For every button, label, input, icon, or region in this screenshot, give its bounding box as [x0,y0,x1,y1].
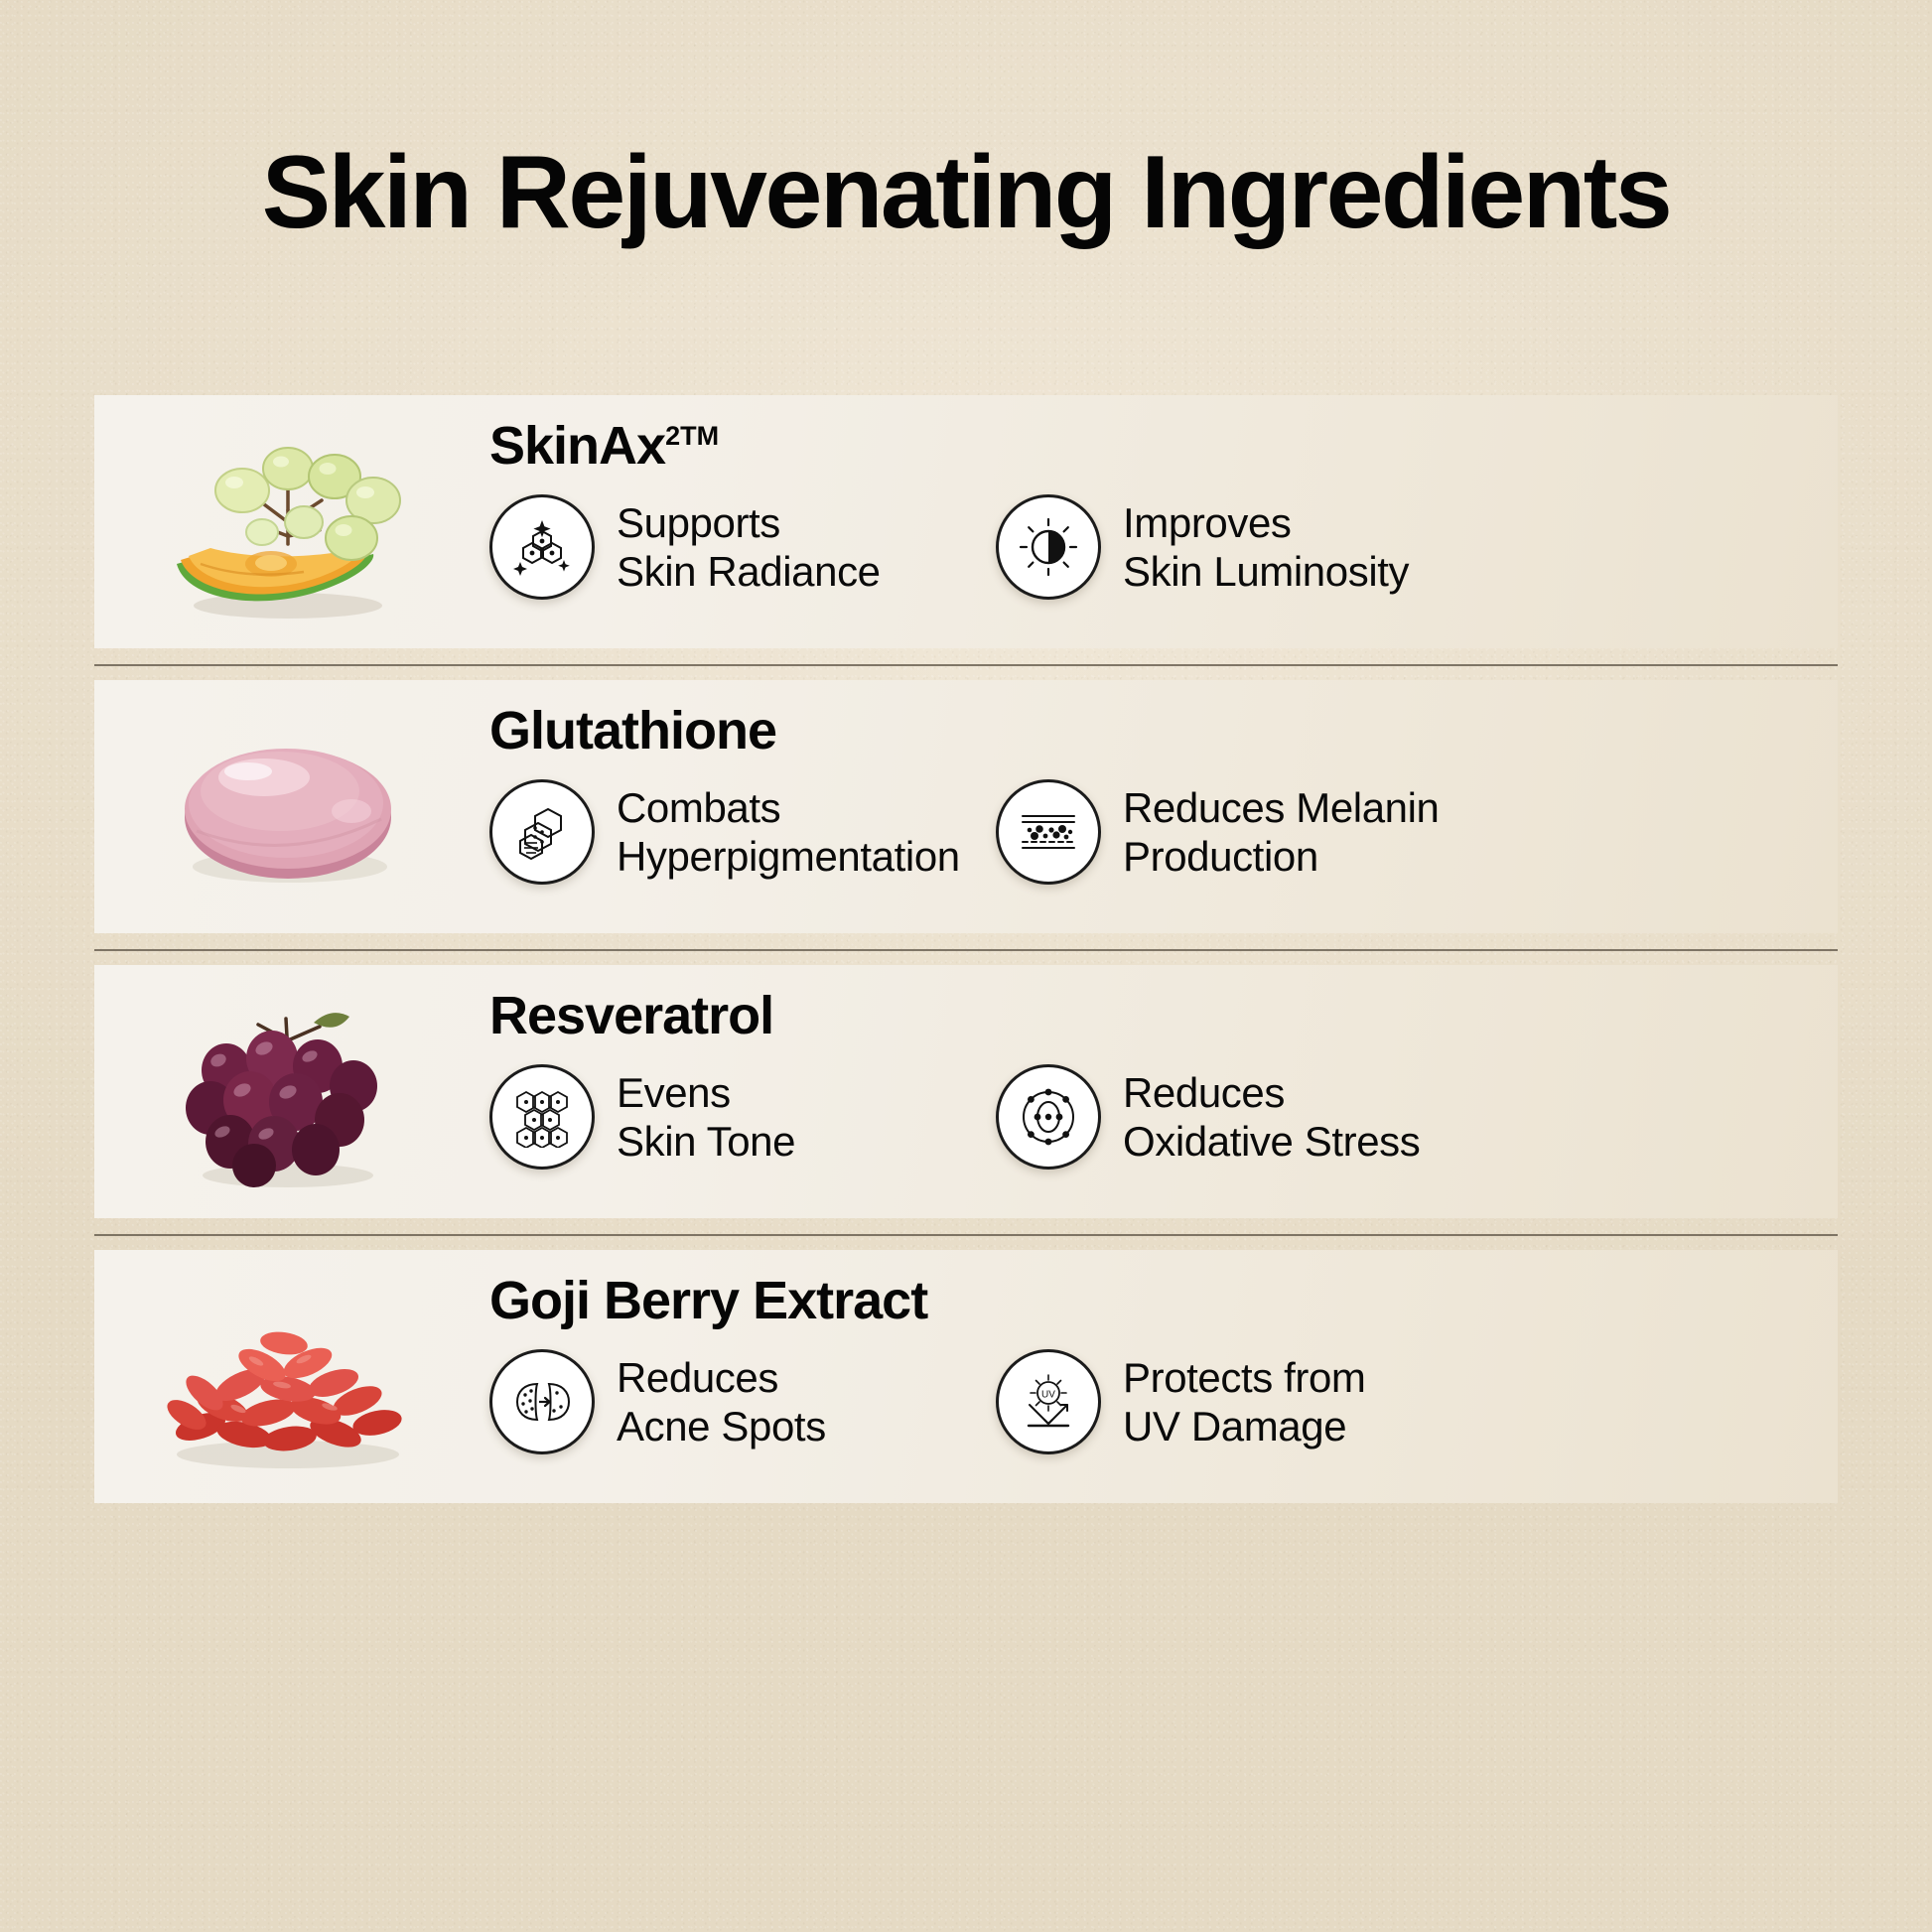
benefit-item: Reduces Melanin Production [996,779,1838,885]
ingredient-name-text: Glutathione [489,701,776,760]
ingredient-name-text: Resveratrol [489,986,773,1045]
benefit-item: Improves Skin Luminosity [996,494,1838,600]
half-sun-luminosity-icon [996,494,1101,600]
svg-text:UV: UV [1041,1390,1055,1401]
ingredient-card-list: SkinAx2TM [94,395,1838,1503]
benefit-label: Evens Skin Tone [617,1068,795,1166]
ingredient-card: Goji Berry Extract [94,1250,1838,1503]
skin-cells-sparkle-icon [489,494,595,600]
benefit-list: Combats Hyperpigmentation [489,779,1838,885]
benefit-label: Improves Skin Luminosity [1123,498,1409,596]
card-content: SkinAx2TM [482,395,1838,648]
melanin-skin-layers-icon [996,779,1101,885]
card-content: Resveratrol [482,965,1838,1218]
ingredient-card: SkinAx2TM [94,395,1838,648]
dried-goji-berries-image [94,1250,482,1503]
card-divider [94,648,1838,680]
antioxidant-atom-icon [996,1064,1101,1170]
card-divider [94,933,1838,965]
hexagon-cells-pigment-icon [489,779,595,885]
ingredient-name: Glutathione [489,704,1838,758]
infographic-page: Skin Rejuvenating Ingredients [0,0,1932,1932]
benefit-label: Protects from UV Damage [1123,1353,1366,1450]
benefit-label: Reduces Melanin Production [1123,783,1440,881]
card-content: Glutathione [482,680,1838,933]
ingredient-card: Glutathione [94,680,1838,933]
acne-spots-reduction-icon [489,1349,595,1454]
benefit-item: Supports Skin Radiance [489,494,996,600]
benefit-label: Reduces Acne Spots [617,1353,826,1450]
ingredient-name: SkinAx2TM [489,419,1838,473]
benefit-item: Reduces Acne Spots [489,1349,996,1454]
melon-slice-and-white-grapes-image [94,395,482,648]
ingredient-name-superscript: 2TM [665,421,719,451]
pink-softgel-capsule-image [94,680,482,933]
ingredient-name: Goji Berry Extract [489,1274,1838,1327]
card-content: Goji Berry Extract [482,1250,1838,1503]
honeycomb-even-tone-icon [489,1064,595,1170]
benefit-item: Evens Skin Tone [489,1064,996,1170]
benefit-list: Supports Skin Radiance [489,494,1838,600]
benefit-item: UV [996,1349,1838,1454]
ingredient-name: Resveratrol [489,989,1838,1042]
ingredient-card: Resveratrol [94,965,1838,1218]
page-title: Skin Rejuvenating Ingredients [0,139,1932,247]
ingredient-name-text: SkinAx [489,416,665,476]
benefit-item: Reduces Oxidative Stress [996,1064,1838,1170]
uv-protection-icon: UV [996,1349,1101,1454]
benefit-label: Combats Hyperpigmentation [617,783,960,881]
red-grapes-bunch-image [94,965,482,1218]
benefit-list: Reduces Acne Spots UV [489,1349,1838,1454]
benefit-label: Supports Skin Radiance [617,498,881,596]
card-divider [94,1218,1838,1250]
benefit-list: Evens Skin Tone [489,1064,1838,1170]
ingredient-name-text: Goji Berry Extract [489,1271,927,1330]
benefit-label: Reduces Oxidative Stress [1123,1068,1420,1166]
benefit-item: Combats Hyperpigmentation [489,779,996,885]
